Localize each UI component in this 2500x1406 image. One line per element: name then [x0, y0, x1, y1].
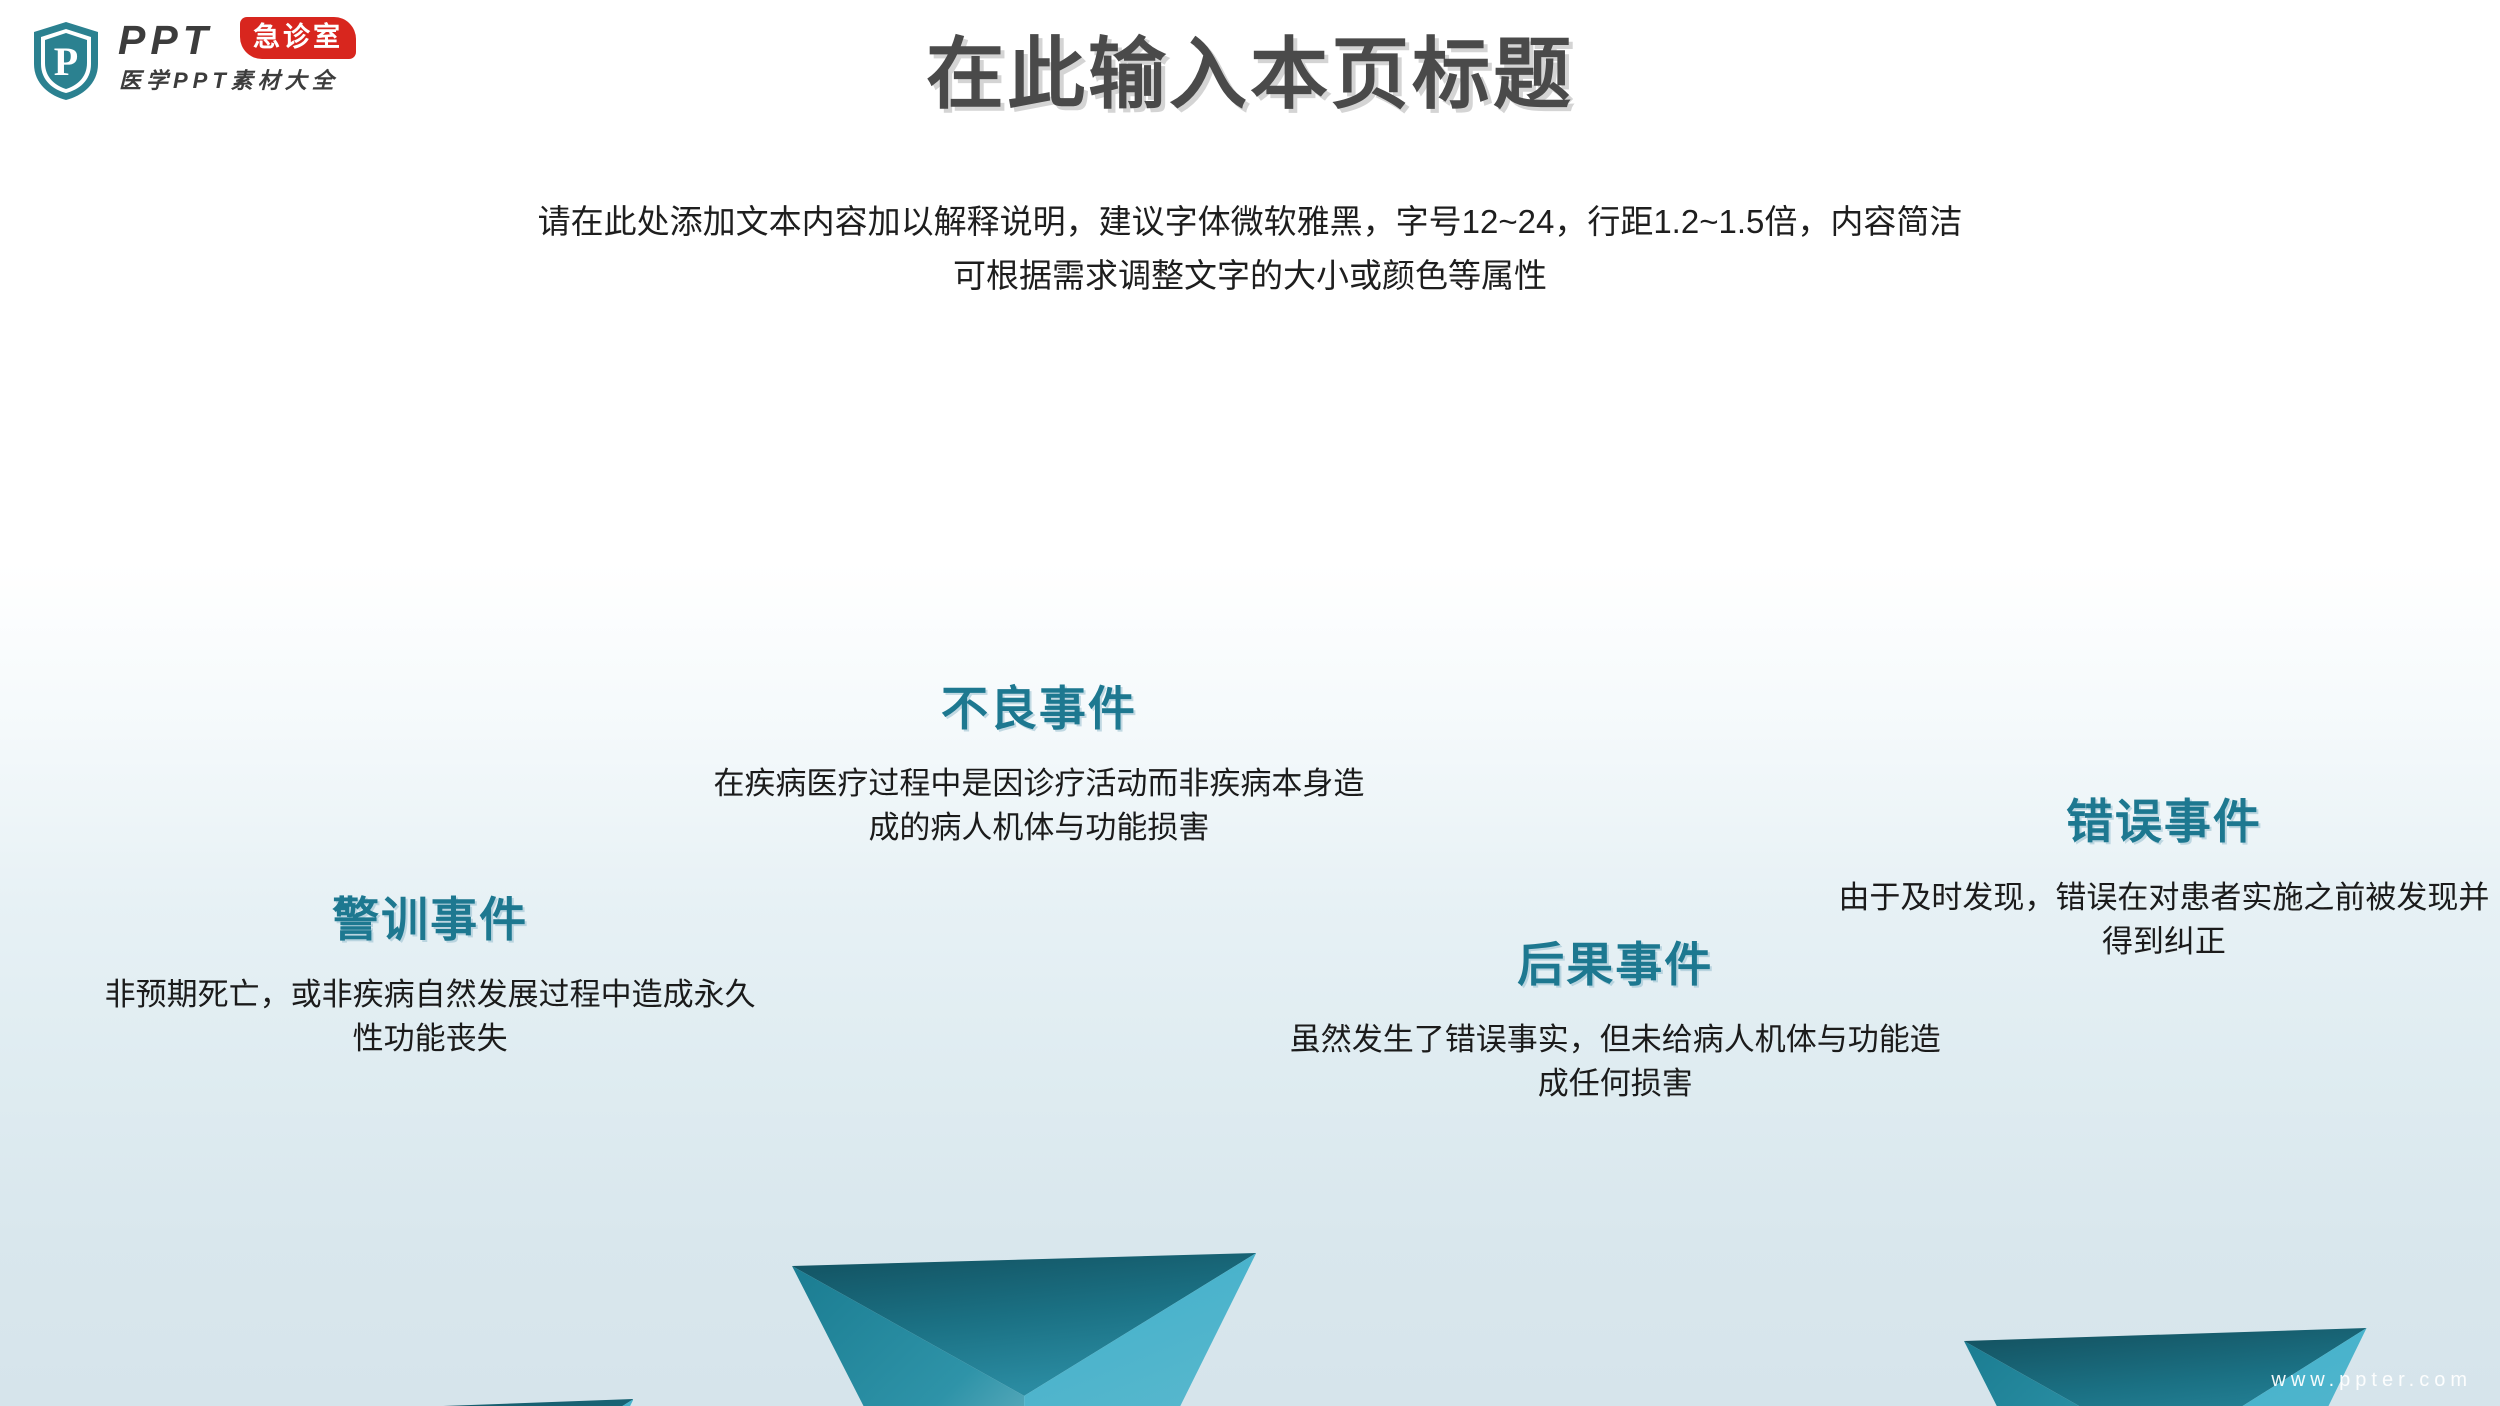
slide-canvas: P PPT 急诊室 医学PPT素材大全 在此输入本页标题 请在此处添加文本内容加… [0, 0, 2500, 1406]
column-2[interactable]: 不良事件 在疾病医疗过程中是因诊疗活动而非疾病本身造成的病人机体与功能损害 [706, 682, 1372, 850]
page-title: 在此输入本页标题 [0, 32, 2500, 118]
column-4[interactable]: 错误事件 由于及时发现，错误在对患者实施之前被发现并得到纠正 [1831, 795, 2497, 963]
column-2-body: 在疾病医疗过程中是因诊疗活动而非疾病本身造成的病人机体与功能损害 [706, 762, 1372, 850]
pyramid-shape-2 [792, 1253, 1256, 1406]
column-3-body: 虽然发生了错误事实，但未给病人机体与功能造成任何损害 [1282, 1018, 1948, 1106]
column-4-title: 错误事件 [1831, 795, 2497, 849]
column-1[interactable]: 警训事件 非预期死亡，或非疾病自然发展过程中造成永久性功能丧失 [97, 893, 763, 1061]
page-subtitle-line-2: 可根据需求调整文字的大小或颜色等属性 [0, 249, 2500, 303]
site-watermark: www.ppter.com [2271, 1369, 2472, 1392]
page-subtitle-line-1: 请在此处添加文本内容加以解释说明，建议字体微软雅黑，字号12~24，行距1.2~… [0, 195, 2500, 249]
pyramid-shape-1 [192, 1399, 634, 1406]
column-4-body: 由于及时发现，错误在对患者实施之前被发现并得到纠正 [1831, 876, 2497, 964]
page-subtitle: 请在此处添加文本内容加以解释说明，建议字体微软雅黑，字号12~24，行距1.2~… [0, 195, 2500, 304]
column-2-title: 不良事件 [706, 682, 1372, 736]
pyramid-shape-4 [1964, 1328, 2367, 1406]
column-1-title: 警训事件 [97, 893, 763, 947]
column-1-body: 非预期死亡，或非疾病自然发展过程中造成永久性功能丧失 [97, 973, 763, 1061]
